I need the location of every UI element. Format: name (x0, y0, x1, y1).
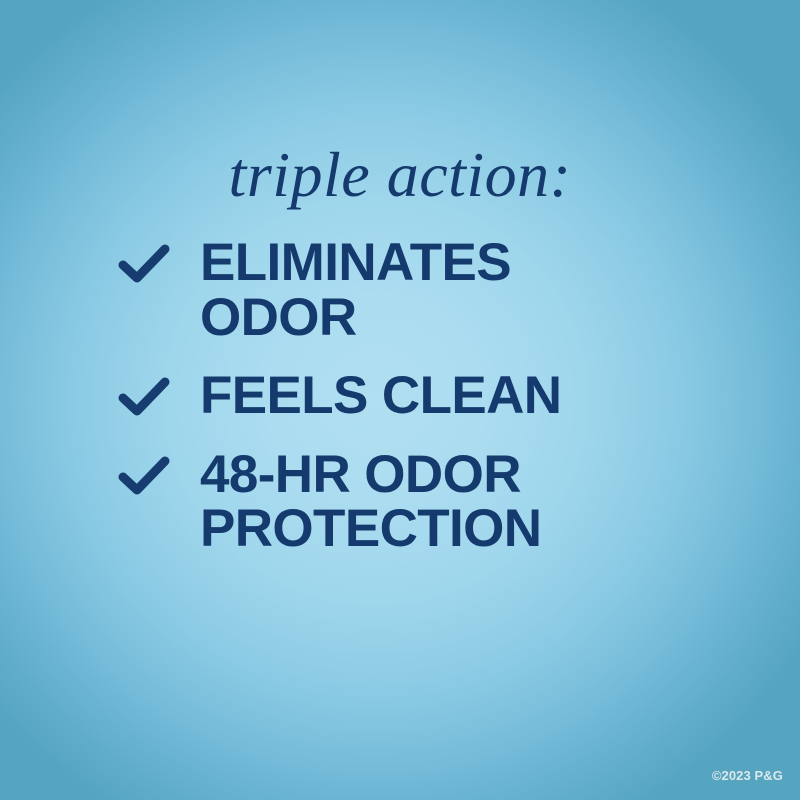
page-title: triple action: (0, 143, 800, 207)
checkmark-cell (118, 448, 200, 496)
list-item: 48-HR ODOR PROTECTION (118, 448, 718, 557)
benefit-label-48hr-odor-protection: 48-HR ODOR PROTECTION (200, 448, 718, 557)
benefit-label-eliminates-odor: ELIMINATES ODOR (200, 236, 718, 345)
advertisement-canvas: triple action: ELIMINATES ODOR FEELS CLE… (0, 0, 800, 800)
list-item: ELIMINATES ODOR (118, 236, 718, 345)
checkmark-icon (118, 456, 170, 496)
checkmark-icon (118, 244, 170, 284)
benefit-list: ELIMINATES ODOR FEELS CLEAN 48-HR ODOR P… (118, 236, 718, 557)
checkmark-cell (118, 369, 200, 417)
checkmark-icon (118, 377, 170, 417)
copyright-notice: ©2023 P&G (712, 768, 783, 783)
list-item: FEELS CLEAN (118, 369, 718, 424)
benefit-label-feels-clean: FEELS CLEAN (200, 369, 718, 424)
checkmark-cell (118, 236, 200, 284)
